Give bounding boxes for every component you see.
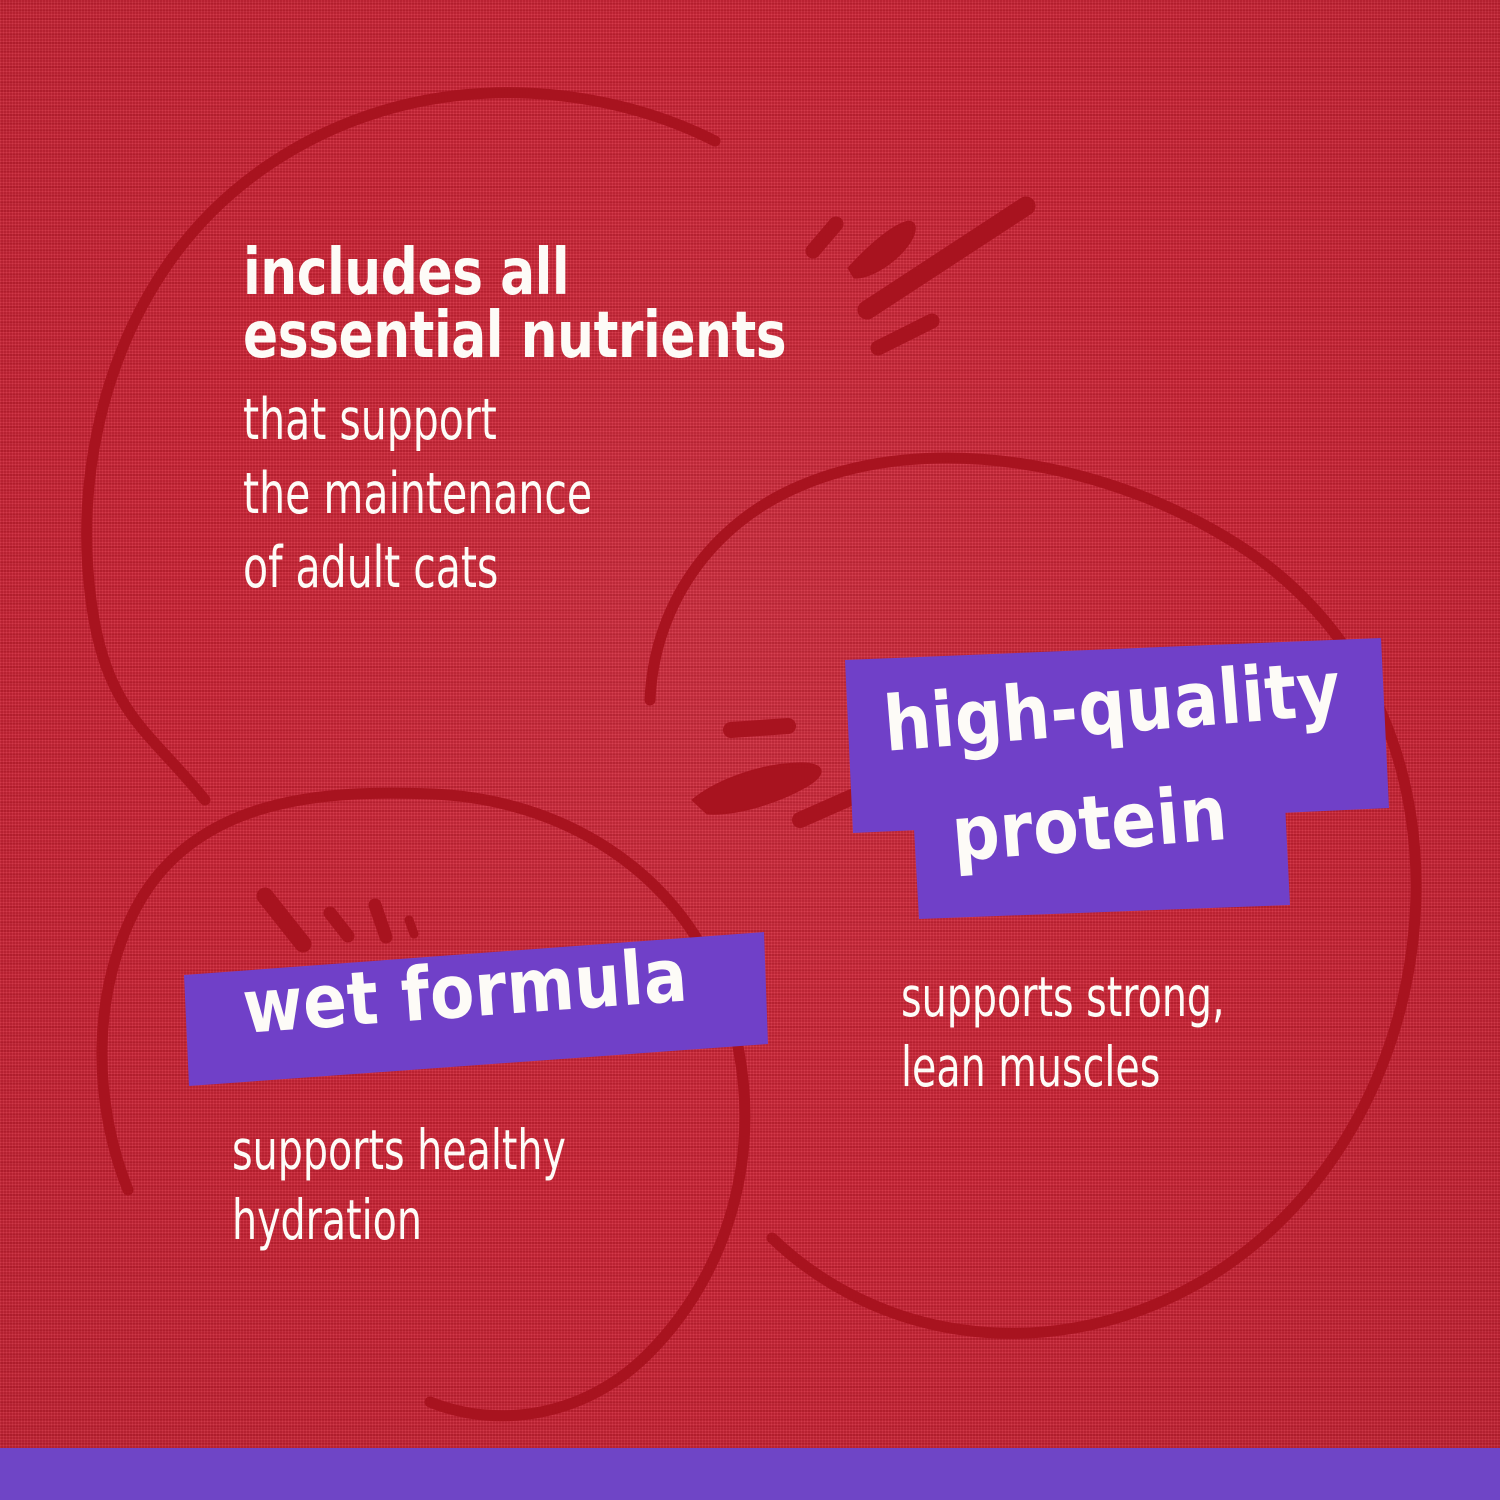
protein-body-line-2: lean muscles (901, 1032, 1225, 1102)
feature-panel: includes all essential nutrients that su… (0, 0, 1500, 1500)
nutrients-body-line-2: the maintenance (243, 457, 726, 531)
nutrients-body-line-1: that support (243, 383, 726, 457)
wet-body-line-1: supports healthy (232, 1115, 566, 1185)
circle-doodle-bottom-left (102, 793, 745, 1416)
nutrients-body-line-3: of adult cats (243, 531, 726, 605)
feature-wet-formula-body: supports healthy hydration (232, 1115, 649, 1256)
feature-high-quality-protein-body: supports strong, lean muscles (901, 962, 1306, 1103)
bottom-purple-bar (0, 1448, 1500, 1500)
decorative-doodles (0, 0, 1500, 1500)
tick-dashes-wet-formula (265, 896, 414, 944)
nutrients-headline-line-1: includes all (243, 242, 786, 305)
protein-body-line-1: supports strong, (901, 962, 1225, 1032)
motion-dashes-middle (692, 726, 852, 820)
wet-body-line-2: hydration (232, 1185, 566, 1255)
feature-essential-nutrients: includes all essential nutrients that su… (243, 242, 847, 605)
nutrients-headline-line-2: essential nutrients (243, 305, 786, 368)
